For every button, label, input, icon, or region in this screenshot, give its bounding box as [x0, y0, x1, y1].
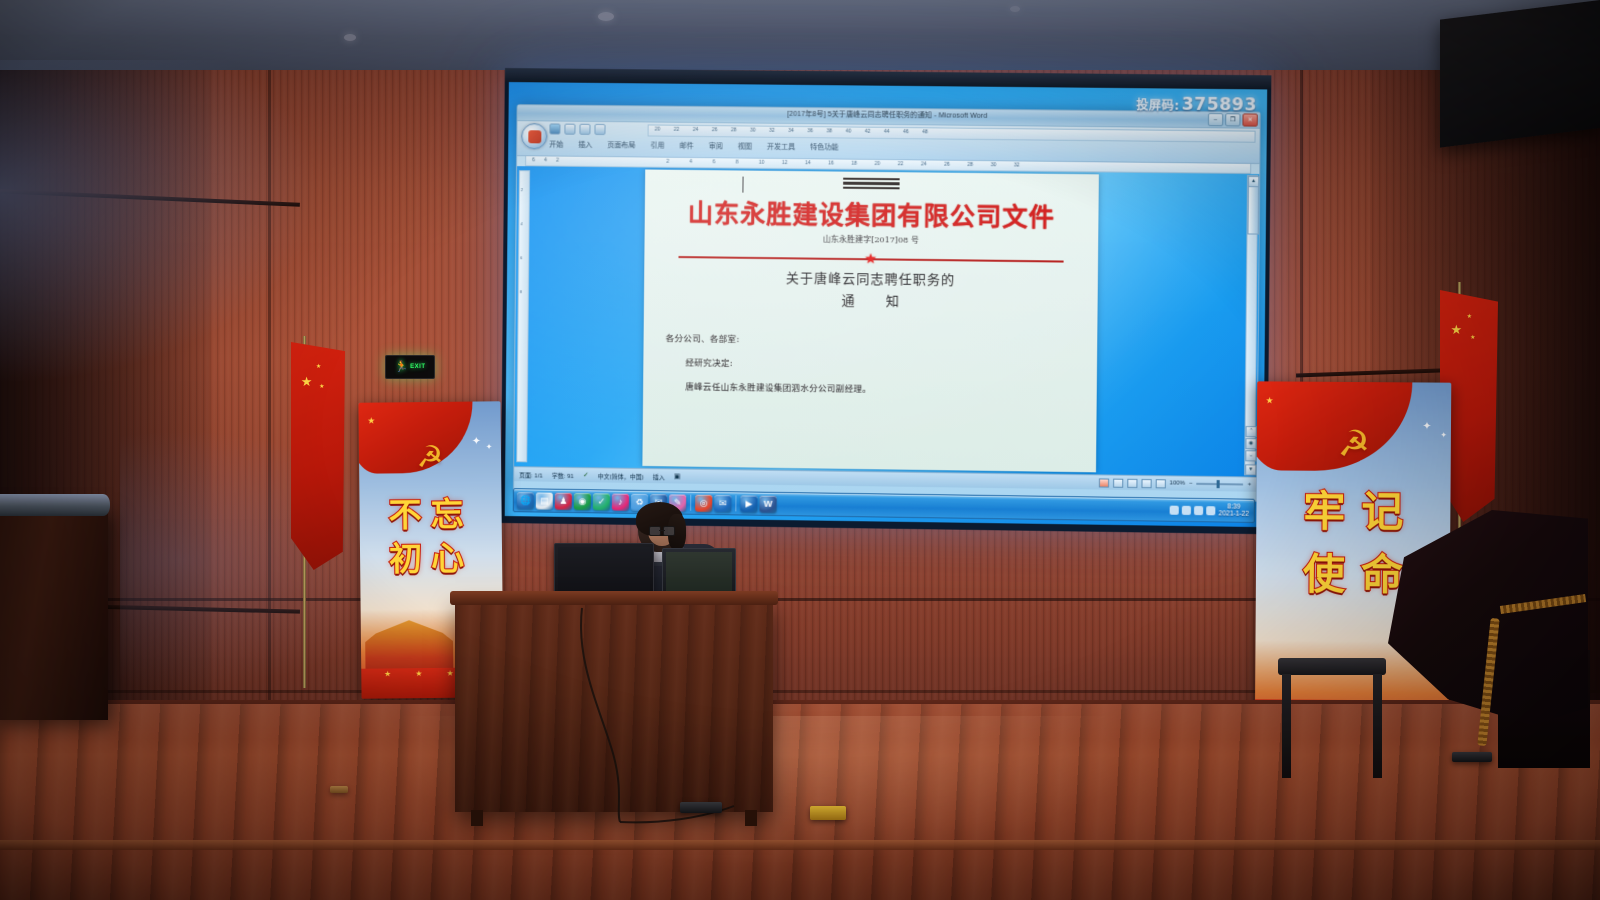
running-man-icon: 🏃: [394, 362, 408, 373]
ceiling-light-1: [598, 12, 614, 21]
ruler-tick-26: 26: [712, 127, 718, 133]
note-app-icon[interactable]: ▤: [536, 492, 553, 509]
flag-small-star-1: ★: [316, 363, 321, 370]
doc-ruler-tick-12: 12: [782, 160, 788, 166]
piano-bench-seat: [1278, 658, 1386, 675]
doc-ruler-tick-10: 10: [759, 160, 765, 166]
flag-small-star-4: ★: [1470, 334, 1475, 341]
word-document-icon[interactable]: W: [759, 495, 776, 512]
system-tray[interactable]: 8:39 2021-1-22: [1170, 503, 1251, 518]
word-window[interactable]: [2017年8号] 5关于唐峰云同志聘任职务的通知 - Microsoft Wo…: [513, 104, 1261, 502]
desk-leg-left: [471, 810, 483, 826]
ruler-tick-30: 30: [750, 128, 756, 134]
web-layout-icon[interactable]: [1127, 478, 1137, 487]
document-red-rule: ★: [678, 250, 1063, 267]
taskbar-separator: [735, 495, 736, 511]
green-shield-icon[interactable]: ✓: [593, 493, 610, 510]
banner-right-party-emblem-icon: ☭: [1338, 426, 1371, 462]
lectern: [0, 508, 108, 720]
doc-ruler-tick-30: 30: [991, 162, 997, 168]
ruler-tick-48: 48: [922, 129, 928, 135]
projection-screen: 投屏码:375893 [2017年8号] 5关于唐峰云同志聘任职务的通知 - M…: [501, 68, 1272, 534]
ceiling-speaker: [1440, 0, 1600, 148]
document-header-rules: [843, 178, 900, 192]
ime-icon[interactable]: [1207, 506, 1216, 515]
status-language[interactable]: 中文(简体，中国): [598, 471, 644, 481]
flag-small-star-3: ★: [1467, 313, 1472, 320]
piano-bench-leg-2: [1373, 674, 1382, 778]
macro-record-icon[interactable]: ▣: [674, 472, 681, 480]
document-number: 山东永胜建字[2017]08 号: [645, 232, 1099, 248]
doc-ruler-left-tick-4: 4: [544, 157, 547, 163]
undo-icon[interactable]: [564, 124, 575, 135]
ruler-tick-38: 38: [826, 128, 832, 134]
office-logo-icon: [528, 130, 541, 143]
tab-mailings[interactable]: 邮件: [678, 140, 696, 152]
doc-ruler-tick-24: 24: [921, 161, 927, 167]
exit-sign-text: EXIT: [410, 364, 425, 370]
china-flag-left: ★ ★ ★: [291, 342, 345, 570]
vertical-ruler[interactable]: 2468: [516, 170, 530, 462]
print-layout-icon[interactable]: [1098, 478, 1108, 487]
tab-page-layout[interactable]: 页面布局: [605, 139, 637, 151]
cable-run: [520, 600, 780, 830]
previous-object-icon[interactable]: ⌃: [1246, 426, 1257, 437]
doc-ruler-tick-26: 26: [944, 162, 950, 168]
banner-right-dove-icon: ✦: [1422, 419, 1431, 432]
banner-footer-star-1: ★: [384, 670, 391, 679]
flag-small-star-2: ★: [319, 383, 324, 390]
taskbar-clock[interactable]: 8:39 2021-1-22: [1219, 503, 1249, 518]
presenter-glasses-icon: [649, 526, 675, 534]
document-body-1: 经研究决定:: [685, 356, 732, 369]
banner-left-dove-icon-2: ✦: [486, 443, 493, 452]
doc-ruler-tick-14: 14: [805, 160, 811, 166]
doc-ruler-left-tick-2: 2: [556, 158, 559, 164]
tab-review[interactable]: 审阅: [707, 140, 725, 152]
select-browse-object-icon[interactable]: ◉: [1245, 438, 1256, 449]
vruler-tick-8: 8: [520, 289, 522, 294]
zoom-in-button[interactable]: +: [1248, 482, 1252, 488]
full-screen-reading-icon[interactable]: [1113, 478, 1123, 487]
banner-flag-star-icon-2: ★: [1266, 396, 1274, 407]
document-page[interactable]: 山东永胜建设集团有限公司文件 山东永胜建字[2017]08 号 ★ 关于唐峰云同…: [642, 170, 1098, 473]
banner-right-dove-icon-2: ✦: [1440, 431, 1447, 440]
status-insert-mode[interactable]: 插入: [653, 472, 665, 481]
proofing-check-icon[interactable]: ✓: [583, 471, 589, 479]
piano-bench: [1278, 658, 1386, 780]
banner-left-party-emblem-icon: ☭: [416, 443, 443, 473]
doc-ruler-tick-32: 32: [1014, 162, 1020, 168]
power-adapter-on-floor: [680, 802, 722, 813]
redo-icon[interactable]: [579, 124, 590, 135]
wechat-icon[interactable]: ◉: [574, 493, 591, 510]
ruler-tick-36: 36: [807, 128, 813, 134]
ceiling-light-2: [344, 34, 356, 41]
banner-left-line-1: 不忘: [359, 487, 501, 536]
draft-view-icon[interactable]: [1155, 479, 1165, 488]
ruler-tick-28: 28: [731, 127, 737, 133]
ruler-tick-24: 24: [693, 127, 699, 133]
floor-tape-marker: [330, 786, 348, 793]
battery-icon[interactable]: [1194, 505, 1203, 514]
tab-insert[interactable]: 插入: [576, 139, 594, 151]
stage-apron: [0, 846, 1600, 900]
status-right-group[interactable]: 100% − +: [1098, 478, 1251, 489]
quick-access-toolbar[interactable]: [549, 123, 605, 135]
status-page: 页面: 1/1: [519, 470, 543, 479]
projection-code: 投屏码:375893: [1136, 94, 1257, 115]
covered-grand-piano: [1388, 500, 1593, 770]
banner-flag-star-icon: ★: [367, 415, 375, 426]
blue-light-wash-left: [0, 60, 330, 390]
projection-code-value: 375893: [1182, 95, 1257, 116]
floor-pedal: [1452, 752, 1492, 762]
document-subject-line-1: 关于唐峰云同志聘任职务的: [644, 266, 1098, 290]
document-org-title: 山东永胜建设集团有限公司文件: [645, 194, 1099, 235]
qq-penguin-icon[interactable]: ♟: [555, 492, 572, 509]
ceiling-light-3: [1010, 6, 1020, 12]
tab-view[interactable]: 视图: [736, 140, 754, 152]
ruler-tick-42: 42: [865, 129, 871, 135]
ruler-tick-20: 20: [655, 127, 661, 133]
ruler-tick-32: 32: [769, 128, 775, 134]
vruler-tick-2: 2: [521, 187, 523, 192]
piano-bench-leg-1: [1282, 674, 1291, 778]
doc-ruler-tick-20: 20: [875, 161, 881, 167]
conference-room-scene: 🏃 EXIT 投屏码:375893 [2017年8号] 5关于唐峰云同志聘任职务…: [0, 0, 1600, 900]
scroll-down-arrow-icon[interactable]: ▼: [1245, 464, 1256, 475]
save-icon[interactable]: [549, 123, 560, 134]
next-object-icon[interactable]: ⌄: [1245, 450, 1256, 461]
text-cursor: [742, 177, 743, 193]
banner-footer-star-3: ★: [446, 669, 453, 678]
zoom-slider-knob[interactable]: [1217, 480, 1220, 488]
tab-references[interactable]: 引用: [648, 139, 666, 151]
zoom-out-button[interactable]: −: [1189, 481, 1193, 487]
doc-ruler-tick-6: 6: [713, 159, 716, 165]
document-body-2: 唐峰云任山东永胜建设集团泗水分公司副经理。: [685, 380, 871, 394]
exit-sign: 🏃 EXIT: [385, 355, 435, 379]
zoom-slider[interactable]: [1197, 483, 1244, 486]
status-words[interactable]: 字数: 91: [552, 470, 574, 479]
yellow-cable-box: [810, 806, 846, 820]
word-title-text: [2017年8号] 5关于唐峰云同志聘任职务的通知 - Microsoft Wo…: [787, 109, 987, 121]
ruler-tick-44: 44: [884, 129, 890, 135]
network-icon[interactable]: [1170, 505, 1179, 514]
vruler-tick-6: 6: [520, 255, 522, 260]
ribbon-tabs[interactable]: 开始 插入 页面布局 引用 邮件 审阅 视图 开发工具 特色功能: [547, 138, 840, 153]
ruler-tick-34: 34: [788, 128, 794, 134]
projection-code-label: 投屏码:: [1136, 98, 1180, 113]
tab-special-features[interactable]: 特色功能: [808, 141, 840, 153]
banner-footer-star-2: ★: [415, 670, 422, 679]
flag-big-star-icon-2: ★: [1450, 322, 1462, 338]
ruler-tick-46: 46: [903, 129, 909, 135]
doc-ruler-tick-28: 28: [967, 162, 973, 168]
flag-big-star-icon: ★: [301, 374, 313, 390]
doc-ruler-tick-16: 16: [828, 160, 834, 166]
tab-home[interactable]: 开始: [547, 138, 565, 150]
doc-ruler-tick-4: 4: [689, 159, 692, 165]
doc-ruler-tick-2: 2: [666, 159, 669, 165]
doc-ruler-tick-18: 18: [851, 161, 857, 167]
ruler-tick-40: 40: [846, 128, 852, 134]
ruler-tick-22: 22: [674, 127, 680, 133]
projected-desktop: 投屏码:375893 [2017年8号] 5关于唐峰云同志聘任职务的通知 - M…: [505, 82, 1267, 527]
lectern-top: [0, 494, 110, 516]
customize-qat-icon[interactable]: [594, 124, 605, 135]
doc-ruler-tick-8: 8: [736, 159, 739, 165]
zoom-level[interactable]: 100%: [1169, 480, 1185, 486]
browser-globe-icon[interactable]: 🌐: [517, 492, 534, 509]
outline-view-icon[interactable]: [1141, 479, 1151, 488]
document-recipients: 各分公司、各部室:: [666, 332, 740, 345]
media-player-icon[interactable]: ▶: [740, 495, 757, 512]
doc-ruler-tick-22: 22: [898, 161, 904, 167]
banner-left-dove-icon: ✦: [472, 434, 481, 447]
red-star-icon: ★: [864, 252, 877, 264]
clock-date: 2021-1-22: [1219, 510, 1249, 517]
banner-left-line-2: 初心: [360, 531, 502, 580]
tab-developer[interactable]: 开发工具: [765, 141, 797, 153]
vruler-tick-4: 4: [520, 221, 522, 226]
office-button-icon[interactable]: [521, 123, 547, 149]
doc-ruler-left-tick-6: 6: [532, 157, 535, 163]
document-subject-line-2: 通 知: [644, 288, 1098, 313]
scrollbar-thumb[interactable]: [1247, 186, 1259, 235]
volume-icon[interactable]: [1182, 505, 1191, 514]
document-canvas[interactable]: 2468 山东永胜建设集团有限公司文件 山东永胜建字[2017]08 号 ★ 关…: [514, 166, 1259, 476]
